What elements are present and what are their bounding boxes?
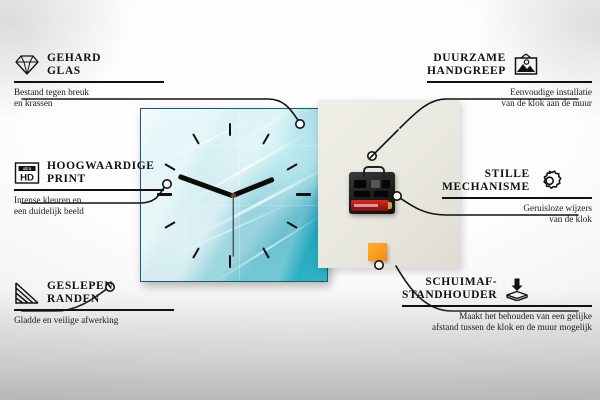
callout-title-2: HANDGREEP <box>427 65 506 78</box>
callout-stille-mechanisme: STILLE MECHANISME Geruisloze wijzers van… <box>442 168 592 225</box>
clock-front-face <box>140 108 328 282</box>
gear-icon <box>537 169 563 193</box>
callout-desc-2: van de klok <box>442 214 592 225</box>
callout-title: GEHARD <box>47 52 101 65</box>
callout-title: SCHUIMAF- <box>402 276 497 289</box>
callout-desc-2: en krassen <box>14 98 164 109</box>
callout-title-2: MECHANISME <box>442 181 530 194</box>
clock-dial <box>141 109 327 281</box>
callout-desc-1: Intense kleuren en <box>14 195 164 206</box>
press-pad-icon <box>504 277 530 301</box>
callout-desc-2: afstand tussen de klok en de muur mogeli… <box>402 322 592 333</box>
callout-title: DUURZAME <box>427 52 506 65</box>
callout-desc-2: van de klok aan de muur <box>427 98 592 109</box>
clock-center-pin <box>231 193 236 198</box>
svg-text:ultra: ultra <box>23 166 32 171</box>
clock-minute-hand <box>178 174 234 198</box>
callout-title: HOOGWAARDIGE <box>47 160 155 173</box>
callout-desc-1: Geruisloze wijzers <box>442 203 592 214</box>
clock-battery <box>351 200 389 211</box>
callout-title-2: RANDEN <box>47 293 113 306</box>
divider <box>402 305 592 307</box>
callout-desc-1: Gladde en veilige afwerking <box>14 315 174 326</box>
callout-desc-1: Bestand tegen breuk <box>14 87 164 98</box>
divider <box>427 81 592 83</box>
beveled-edges-icon <box>14 282 40 304</box>
divider <box>14 189 164 191</box>
callout-title-2: GLAS <box>47 65 101 78</box>
divider <box>442 197 592 199</box>
diamond-icon <box>14 54 40 76</box>
clock-mechanism <box>349 172 395 214</box>
foam-spacer <box>368 243 387 261</box>
callout-desc-1: Maakt het behouden van een gelijke <box>402 311 592 322</box>
callout-gehard-glas: GEHARD GLAS Bestand tegen breuk en krass… <box>14 52 164 109</box>
svg-text:HD: HD <box>20 172 34 183</box>
divider <box>14 81 164 83</box>
callout-title-2: STANDHOUDER <box>402 289 497 302</box>
callout-title-2: PRINT <box>47 173 155 186</box>
hanger-loop-icon <box>363 166 385 177</box>
callout-title: STILLE <box>442 168 530 181</box>
callout-geslepen-randen: GESLEPEN RANDEN Gladde en veilige afwerk… <box>14 280 174 326</box>
callout-hoogwaardige-print: ultra HD HOOGWAARDIGE PRINT Intense kleu… <box>14 160 164 217</box>
divider <box>14 309 174 311</box>
callout-desc-2: een duidelijk beeld <box>14 206 164 217</box>
clock-hour-hand <box>232 177 275 198</box>
picture-frame-icon <box>513 53 539 77</box>
ultra-hd-icon: ultra HD <box>14 161 40 185</box>
callout-title: GESLEPEN <box>47 280 113 293</box>
infographic-canvas: GEHARD GLAS Bestand tegen breuk en krass… <box>0 0 600 400</box>
callout-duurzame-handgreep: DUURZAME HANDGREEP Eenvoudige installati… <box>427 52 592 109</box>
callout-schuimafstandhouder: SCHUIMAF- STANDHOUDER Maakt het behouden… <box>402 276 592 333</box>
callout-desc-1: Eenvoudige installatie <box>427 87 592 98</box>
